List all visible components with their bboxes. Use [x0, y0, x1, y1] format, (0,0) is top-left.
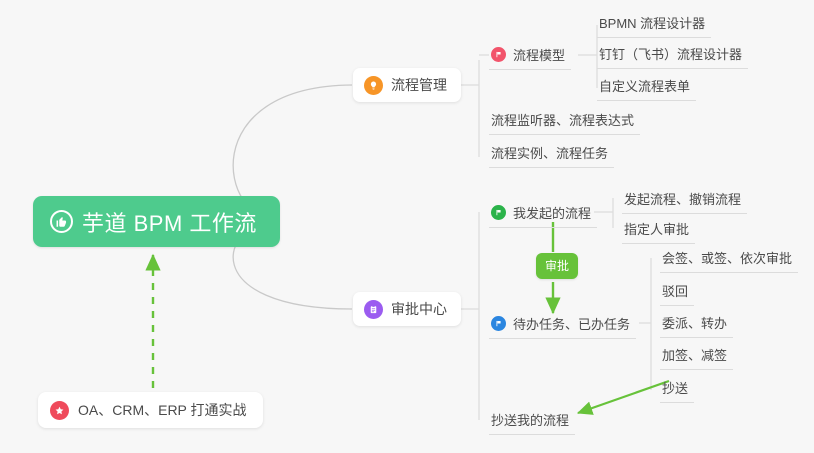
leaf-label-cc-to-me: 抄送我的流程 — [491, 410, 569, 429]
leaf-label-bpmn-designer: BPMN 流程设计器 — [599, 13, 705, 32]
leaf-countersign[interactable]: 会签、或签、依次审批 — [660, 245, 798, 273]
leaf-label-flow-instance: 流程实例、流程任务 — [491, 143, 608, 162]
leaf-label-delegate-transfer: 委派、转办 — [662, 313, 727, 332]
leaf-label-assignee-approval: 指定人审批 — [624, 219, 689, 238]
leaf-cc[interactable]: 抄送 — [660, 375, 694, 403]
leaf-flow-instance[interactable]: 流程实例、流程任务 — [489, 140, 614, 168]
leaf-label-my-initiated: 我发起的流程 — [513, 203, 591, 222]
branch-node-approval-center[interactable]: 审批中心 — [353, 292, 461, 326]
leaf-start-cancel-flow[interactable]: 发起流程、撤销流程 — [622, 186, 747, 214]
leaf-flow-model[interactable]: 流程模型 — [489, 42, 571, 70]
leaf-label-custom-form: 自定义流程表单 — [599, 76, 690, 95]
mindmap-canvas: 芋道 BPM 工作流 流程管理 审批中心 — [0, 0, 814, 453]
annotation-chip-approval: 审批 — [536, 253, 578, 279]
leaf-assignee-approval[interactable]: 指定人审批 — [622, 216, 695, 244]
star-icon — [50, 401, 69, 420]
leaf-dingtalk-designer[interactable]: 钉钉（飞书）流程设计器 — [597, 41, 748, 69]
leaf-label-countersign: 会签、或签、依次审批 — [662, 248, 792, 267]
note-label: OA、CRM、ERP 打通实战 — [78, 400, 247, 420]
leaf-custom-form[interactable]: 自定义流程表单 — [597, 73, 696, 101]
annotation-chip-label: 审批 — [545, 259, 569, 273]
branch-label-flow-management: 流程管理 — [391, 75, 447, 95]
lightbulb-pin-icon — [364, 76, 383, 95]
clipboard-icon — [364, 300, 383, 319]
leaf-flow-listener[interactable]: 流程监听器、流程表达式 — [489, 107, 640, 135]
leaf-label-add-remove-sign: 加签、减签 — [662, 345, 727, 364]
leaf-label-todo-done-tasks: 待办任务、已办任务 — [513, 314, 630, 333]
leaf-label-start-cancel-flow: 发起流程、撤销流程 — [624, 189, 741, 208]
flag-icon — [491, 205, 506, 220]
leaf-bpmn-designer[interactable]: BPMN 流程设计器 — [597, 10, 711, 38]
leaf-label-dingtalk-designer: 钉钉（飞书）流程设计器 — [599, 44, 742, 63]
leaf-label-cc: 抄送 — [662, 378, 688, 397]
leaf-cc-to-me[interactable]: 抄送我的流程 — [489, 407, 575, 435]
root-node[interactable]: 芋道 BPM 工作流 — [33, 196, 280, 247]
branch-node-flow-management[interactable]: 流程管理 — [353, 68, 461, 102]
note-node-integration[interactable]: OA、CRM、ERP 打通实战 — [38, 392, 263, 428]
annotation-arrow-cc — [578, 381, 669, 413]
flag-icon — [491, 316, 506, 331]
leaf-my-initiated[interactable]: 我发起的流程 — [489, 200, 597, 228]
leaf-reject[interactable]: 驳回 — [660, 278, 694, 306]
leaf-label-flow-listener: 流程监听器、流程表达式 — [491, 110, 634, 129]
leaf-todo-done-tasks[interactable]: 待办任务、已办任务 — [489, 311, 636, 339]
leaf-delegate-transfer[interactable]: 委派、转办 — [660, 310, 733, 338]
flag-icon — [491, 47, 506, 62]
branch-label-approval-center: 审批中心 — [391, 299, 447, 319]
leaf-label-flow-model: 流程模型 — [513, 45, 565, 64]
root-label: 芋道 BPM 工作流 — [82, 206, 257, 238]
thumbs-up-icon — [50, 210, 73, 233]
leaf-label-reject: 驳回 — [662, 281, 688, 300]
leaf-add-remove-sign[interactable]: 加签、减签 — [660, 342, 733, 370]
